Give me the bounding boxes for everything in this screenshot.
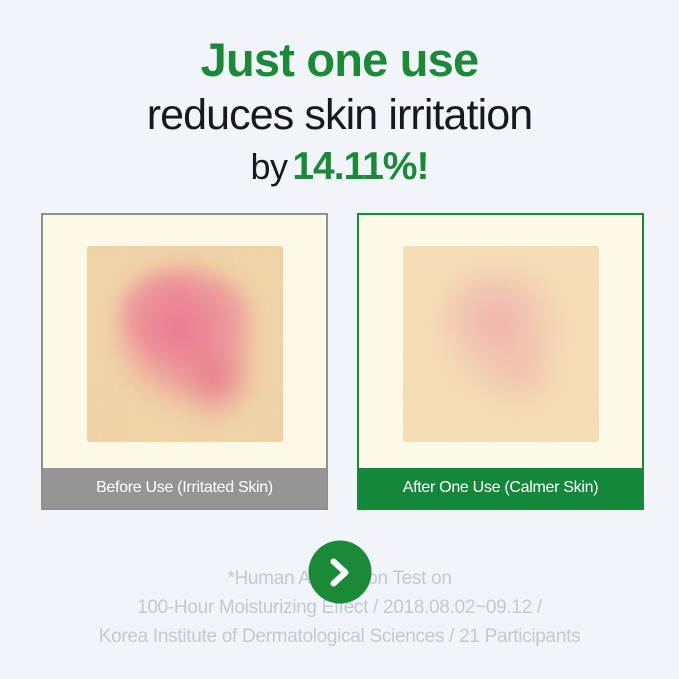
headline-line-3: by14.11%!: [0, 145, 679, 190]
swatch-area-before: [43, 215, 326, 472]
panel-after-use: After One Use (Calmer Skin): [357, 213, 644, 510]
footnote-line-3: Korea Institute of Dermatological Scienc…: [0, 623, 679, 652]
headline-by-label: by: [251, 146, 288, 187]
headline-line-2: reduces skin irritation: [0, 89, 679, 141]
swatch-area-after: [359, 215, 642, 472]
comparison-arrow-badge: [308, 541, 371, 604]
headline-line-1: Just one use: [0, 34, 679, 87]
headline-percent-value: 14.11%!: [292, 145, 428, 188]
headline-block: Just one use reduces skin irritation by1…: [0, 34, 679, 190]
panel-label-after: After One Use (Calmer Skin): [359, 468, 642, 508]
skin-swatch-before: [87, 246, 283, 442]
chevron-right-icon: [327, 557, 353, 587]
comparison-section: Before Use (Irritated Skin): [0, 213, 679, 513]
infographic-page: Just one use reduces skin irritation by1…: [0, 0, 679, 679]
skin-swatch-after: [403, 246, 599, 442]
panel-label-before: Before Use (Irritated Skin): [43, 468, 326, 508]
panel-before-use: Before Use (Irritated Skin): [41, 213, 328, 510]
